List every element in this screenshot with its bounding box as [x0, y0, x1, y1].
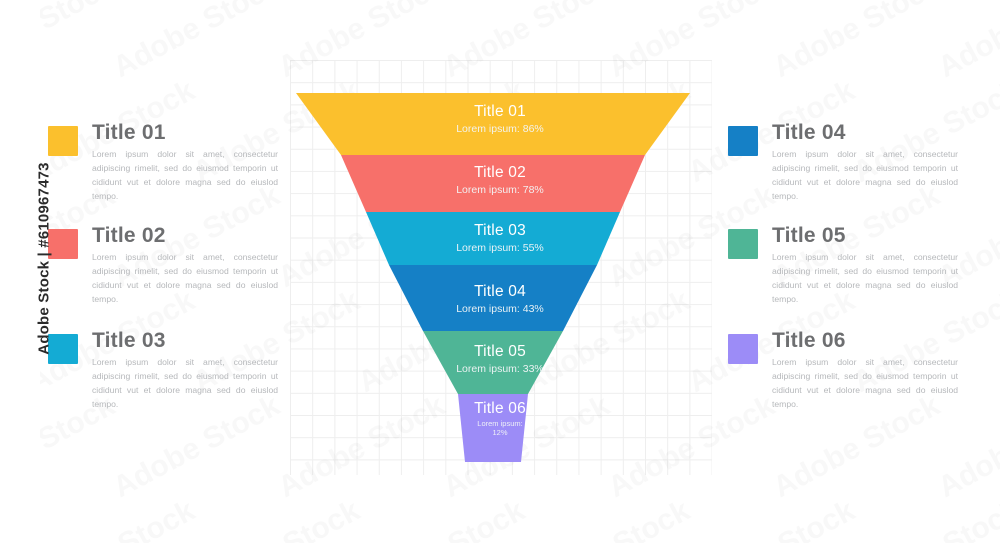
legend-title-title-03: Title 03 — [92, 330, 278, 351]
legend-swatch-title-03 — [48, 334, 78, 364]
adobe-stock-watermark-label: Adobe Stock | #610967473 — [36, 129, 53, 389]
legend-body-title-02: Title 02 Lorem ipsum dolor sit amet, con… — [92, 225, 278, 307]
legend-body-title-01: Title 01 Lorem ipsum dolor sit amet, con… — [92, 122, 278, 204]
legend-body-title-05: Title 05 Lorem ipsum dolor sit amet, con… — [772, 225, 958, 307]
funnel-segment-6[interactable] — [458, 394, 528, 462]
funnel-segment-4[interactable] — [389, 265, 597, 331]
legend-body-title-06: Title 06 Lorem ipsum dolor sit amet, con… — [772, 330, 958, 412]
legend-description-title-04: Lorem ipsum dolor sit amet, consectetur … — [772, 148, 958, 204]
infographic-canvas: Adobe StockAdobe StockAdobe StockAdobe S… — [0, 0, 1000, 543]
legend-title-title-06: Title 06 — [772, 330, 958, 351]
legend-swatch-title-01 — [48, 126, 78, 156]
legend-item-title-06[interactable]: Title 06 Lorem ipsum dolor sit amet, con… — [728, 330, 968, 412]
legend-item-title-01[interactable]: Title 01 Lorem ipsum dolor sit amet, con… — [48, 122, 288, 204]
legend-swatch-title-06 — [728, 334, 758, 364]
funnel-segment-1[interactable] — [296, 93, 690, 155]
funnel-segment-2[interactable] — [341, 155, 645, 212]
legend-title-title-04: Title 04 — [772, 122, 958, 143]
legend-description-title-01: Lorem ipsum dolor sit amet, consectetur … — [92, 148, 278, 204]
legend-title-title-05: Title 05 — [772, 225, 958, 246]
legend-title-title-01: Title 01 — [92, 122, 278, 143]
funnel-segment-3[interactable] — [366, 212, 620, 265]
legend-description-title-06: Lorem ipsum dolor sit amet, consectetur … — [772, 356, 958, 412]
legend-body-title-03: Title 03 Lorem ipsum dolor sit amet, con… — [92, 330, 278, 412]
legend-swatch-title-05 — [728, 229, 758, 259]
legend-item-title-05[interactable]: Title 05 Lorem ipsum dolor sit amet, con… — [728, 225, 968, 307]
watermark-rail: Adobe Stock | #610967473 — [0, 0, 40, 543]
legend-title-title-02: Title 02 — [92, 225, 278, 246]
legend-description-title-05: Lorem ipsum dolor sit amet, consectetur … — [772, 251, 958, 307]
legend-swatch-title-04 — [728, 126, 758, 156]
legend-description-title-03: Lorem ipsum dolor sit amet, consectetur … — [92, 356, 278, 412]
legend-item-title-03[interactable]: Title 03 Lorem ipsum dolor sit amet, con… — [48, 330, 288, 412]
legend-description-title-02: Lorem ipsum dolor sit amet, consectetur … — [92, 251, 278, 307]
legend-item-title-04[interactable]: Title 04 Lorem ipsum dolor sit amet, con… — [728, 122, 968, 204]
legend-swatch-title-02 — [48, 229, 78, 259]
legend-item-title-02[interactable]: Title 02 Lorem ipsum dolor sit amet, con… — [48, 225, 288, 307]
funnel-segment-5[interactable] — [423, 331, 563, 394]
legend-body-title-04: Title 04 Lorem ipsum dolor sit amet, con… — [772, 122, 958, 204]
